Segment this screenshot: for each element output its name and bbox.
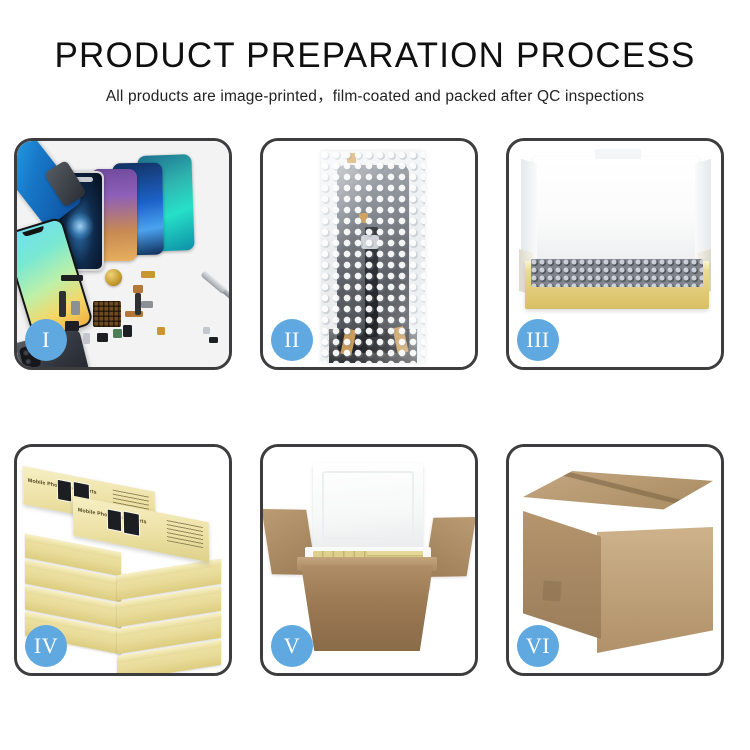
step-badge-4: IV	[25, 625, 67, 667]
part-chip	[141, 271, 155, 278]
part-chip	[97, 333, 108, 342]
step-panel-2: II	[260, 138, 478, 370]
page-title: PRODUCT PREPARATION PROCESS	[0, 36, 750, 76]
step-badge-6: VI	[517, 625, 559, 667]
part-chip	[71, 301, 80, 315]
process-step-grid: I II	[14, 138, 736, 676]
carton-front-face	[523, 511, 601, 639]
logic-board-chip	[93, 301, 121, 327]
bubble-wrap-contents	[531, 259, 703, 287]
white-box-lid	[533, 157, 699, 267]
step-badge-3: III	[517, 319, 559, 361]
part-chip	[61, 275, 83, 281]
box-label-spec-lines	[167, 519, 203, 548]
step-panel-5: V	[260, 444, 478, 676]
part-chip	[133, 285, 143, 293]
screwdriver-tool	[200, 270, 227, 295]
part-chip	[157, 327, 165, 335]
step-panel-1: I	[14, 138, 232, 370]
plastic-sheen	[321, 151, 425, 363]
box-label-phone-image	[57, 479, 72, 503]
carton-seam	[552, 468, 689, 507]
part-chip	[83, 333, 90, 344]
box-label-phone-image	[123, 510, 140, 536]
page-header: PRODUCT PREPARATION PROCESS All products…	[0, 36, 750, 106]
part-chip	[123, 325, 132, 337]
bubble-wrap-package	[321, 151, 425, 363]
step-panel-6: VI	[506, 444, 724, 676]
part-chip	[113, 329, 122, 338]
part-chip	[209, 337, 218, 343]
step-badge-5: V	[271, 625, 313, 667]
page-subtitle: All products are image-printed，film-coat…	[0, 84, 750, 106]
part-chip	[203, 327, 210, 334]
flex-cable	[59, 291, 66, 317]
flex-cable	[135, 293, 141, 315]
carton-side-face	[597, 527, 713, 653]
step-badge-1: I	[25, 319, 67, 361]
foam-lid	[313, 463, 423, 553]
sealed-carton	[523, 471, 713, 647]
step-panel-4: Mobile Phone Spare Parts Mobile Phone Sp…	[14, 444, 232, 676]
step-badge-2: II	[271, 319, 313, 361]
product-preparation-process-page: PRODUCT PREPARATION PROCESS All products…	[0, 0, 750, 750]
step-panel-3: III	[506, 138, 724, 370]
carton-tape	[542, 580, 561, 601]
vibration-motor-part	[105, 269, 122, 286]
part-chip	[65, 321, 79, 331]
part-chip	[141, 301, 153, 308]
carton-body	[301, 565, 433, 651]
lid-tab	[595, 149, 641, 159]
box-label-phone-image	[107, 508, 122, 532]
